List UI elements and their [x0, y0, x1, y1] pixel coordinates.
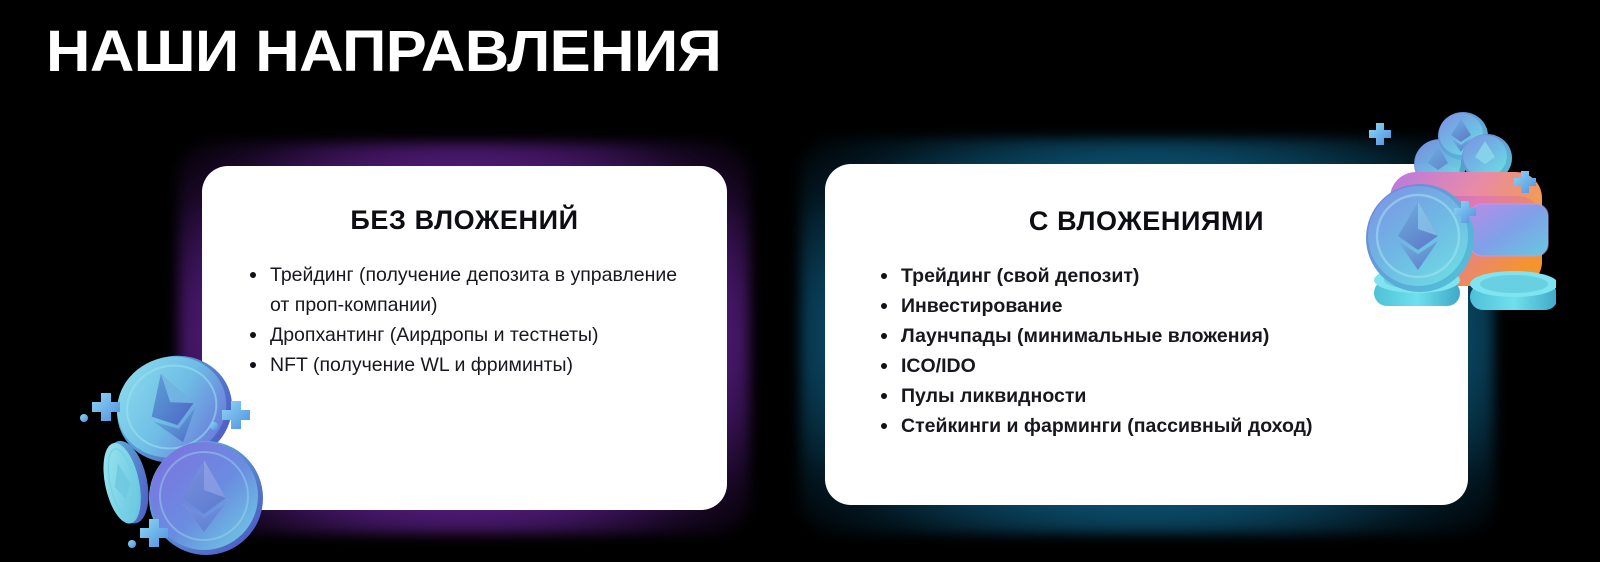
list-item: NFT (получение WL и фриминты) — [248, 350, 683, 380]
list-item: ICO/IDO — [879, 351, 1434, 381]
sparkle-icon — [80, 393, 120, 422]
list-item: Дропхантинг (Аирдропы и тестнеты) — [248, 320, 683, 350]
card-title-with-investment: С ВЛОЖЕНИЯМИ — [825, 206, 1468, 237]
card-list-no-investment: Трейдинг (получение депозита в управлени… — [202, 260, 727, 380]
sparkle-icon — [128, 519, 168, 548]
sparkle-icon — [1514, 171, 1536, 193]
list-item: Стейкинги и фарминги (пассивный доход) — [879, 411, 1434, 441]
page-title: НАШИ НАПРАВЛЕНИЯ — [46, 20, 721, 84]
list-item: Трейдинг (получение депозита в управлени… — [248, 260, 683, 320]
list-item: Инвестирование — [879, 291, 1434, 321]
card-title-no-investment: БЕЗ ВЛОЖЕНИЙ — [202, 205, 727, 236]
coin-edge-on — [97, 437, 156, 528]
list-item: Пулы ликвидности — [879, 381, 1434, 411]
card-list-with-investment: Трейдинг (свой депозит) Инвестирование Л… — [825, 261, 1468, 441]
list-item: Лаунчпады (минимальные вложения) — [879, 321, 1434, 351]
list-item: Трейдинг (свой депозит) — [879, 261, 1434, 291]
slide-canvas: НАШИ НАПРАВЛЕНИЯ БЕЗ ВЛОЖЕНИЙ Трейдинг (… — [0, 0, 1600, 562]
card-with-investment[interactable]: С ВЛОЖЕНИЯМИ Трейдинг (свой депозит) Инв… — [825, 164, 1468, 505]
card-no-investment[interactable]: БЕЗ ВЛОЖЕНИЙ Трейдинг (получение депозит… — [202, 166, 727, 510]
